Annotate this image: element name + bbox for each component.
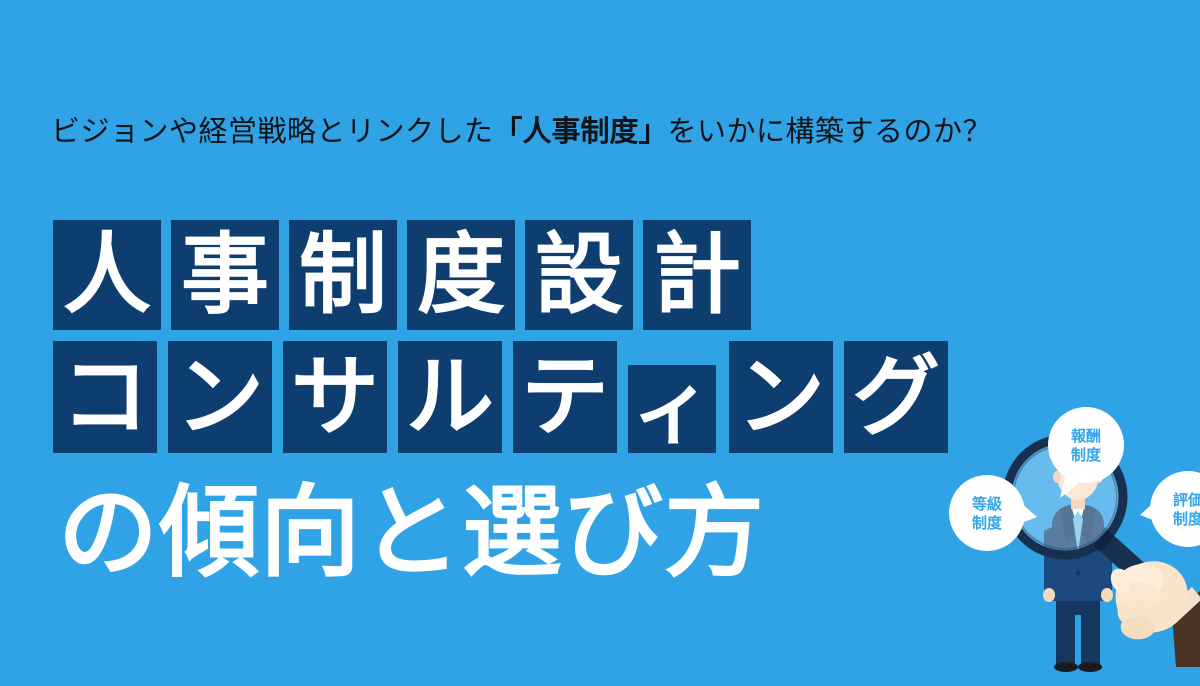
subtitle-tail: をいかに構築するのか？ [668, 114, 993, 148]
speech-bubble-right: 評価 制度 [1140, 471, 1200, 547]
headline-char-box: ル [398, 341, 502, 453]
headline-char-box: 度 [407, 220, 515, 330]
bubble-right-line1: 評価 [1173, 491, 1200, 509]
hand-holding-glass [1111, 561, 1200, 667]
bubble-right-line2: 制度 [1173, 510, 1200, 528]
headline-char-box: テ [513, 341, 617, 453]
headline-char-box: 人 [53, 220, 161, 330]
headline-char-box: 制 [289, 220, 397, 330]
subtitle: ビジョンや経営戦略とリンクした「人事制度」をいかに構築するのか？ [51, 117, 992, 146]
bubble-top-line1: 報酬 [1071, 427, 1101, 445]
subtitle-emphasis: 「人事制度」 [494, 114, 668, 148]
headline-row-1: 人 事 制 度 設 計 [53, 220, 751, 330]
headline-char-box-small: ィ [628, 365, 716, 453]
subtitle-lead: ビジョンや経営戦略とリンクした [51, 114, 494, 148]
headline-char-box: 事 [171, 220, 279, 330]
poster-canvas: ビジョンや経営戦略とリンクした「人事制度」をいかに構築するのか？ 人 事 制 度… [0, 0, 1200, 686]
headline-char-box: ン [168, 341, 272, 453]
headline-char-box: サ [283, 341, 387, 453]
bubble-left-line1: 等級 [972, 495, 1002, 513]
bubble-top-line2: 制度 [1071, 446, 1102, 464]
headline-char-box: 計 [643, 220, 751, 330]
headline-char-box: グ [844, 341, 948, 453]
headline-row-3: の傾向と選び方 [58, 479, 765, 587]
headline-char-box: ン [729, 341, 833, 453]
bubble-left-line2: 制度 [972, 514, 1003, 532]
headline-row-2: コ ン サ ル テ ィ ン グ [53, 341, 948, 453]
illustration-magnifying-glass-businessman: 報酬 制度 等級 制度 評価 制度 [940, 405, 1200, 686]
headline-char-box: 設 [525, 220, 633, 330]
headline-char-box: コ [53, 341, 157, 453]
